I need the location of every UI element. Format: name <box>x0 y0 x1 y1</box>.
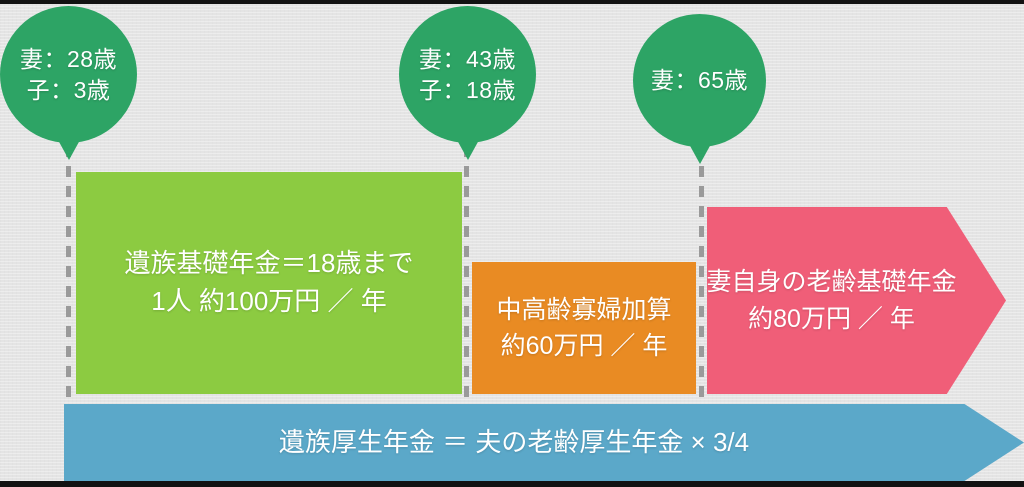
timeline-tick-age-28 <box>66 146 71 408</box>
marker-age-43-line-1: 妻：43歳 <box>419 44 516 74</box>
marker-age-65-line-1: 妻：65歳 <box>651 65 748 95</box>
bar-survivors-basic-pension-line-1: 遺族基礎年金＝18歳まで <box>125 245 414 283</box>
marker-age-28-line-1: 妻：28歳 <box>20 44 117 74</box>
bar-wife-own-basic-pension-line-1: 妻自身の老齢基礎年金 <box>707 264 957 300</box>
bar-wife-own-basic-pension: 妻自身の老齢基礎年金 約80万円 ／ 年 <box>707 207 1006 394</box>
bar-survivors-employee-pension: 遺族厚生年金 ＝ 夫の老齢厚生年金 × 3/4 <box>64 404 1024 481</box>
top-border-strip <box>0 0 1024 4</box>
marker-balloon-age-43: 妻：43歳 子：18歳 <box>399 6 536 143</box>
bar-survivors-employee-pension-line-1: 遺族厚生年金 ＝ 夫の老齢厚生年金 × 3/4 <box>279 424 749 462</box>
marker-balloon-age-28: 妻：28歳 子：3歳 <box>0 6 137 143</box>
timeline-tick-age-65 <box>699 146 704 408</box>
marker-age-43-line-2: 子：18歳 <box>419 75 516 105</box>
bar-survivors-basic-pension: 遺族基礎年金＝18歳まで 1人 約100万円 ／ 年 <box>76 172 462 394</box>
bar-middle-aged-widow-addition-line-1: 中高齢寡婦加算 <box>496 292 671 328</box>
balloon-tail-icon <box>58 140 80 160</box>
marker-age-28-line-2: 子：3歳 <box>27 75 111 105</box>
balloon-tail-icon <box>457 140 479 160</box>
bar-wife-own-basic-pension-line-2: 約80万円 ／ 年 <box>707 301 957 337</box>
bar-middle-aged-widow-addition: 中高齢寡婦加算 約60万円 ／ 年 <box>472 262 696 394</box>
bottom-border-strip <box>0 481 1024 487</box>
bar-survivors-basic-pension-line-2: 1人 約100万円 ／ 年 <box>151 283 387 321</box>
bar-middle-aged-widow-addition-line-2: 約60万円 ／ 年 <box>501 328 668 364</box>
balloon-tail-icon <box>689 144 711 164</box>
timeline-tick-age-43 <box>464 146 469 408</box>
marker-balloon-age-65: 妻：65歳 <box>633 14 766 147</box>
pension-diagram-canvas: 妻：28歳 子：3歳 妻：43歳 子：18歳 妻：65歳 遺族基礎年金＝18歳ま… <box>0 0 1024 487</box>
